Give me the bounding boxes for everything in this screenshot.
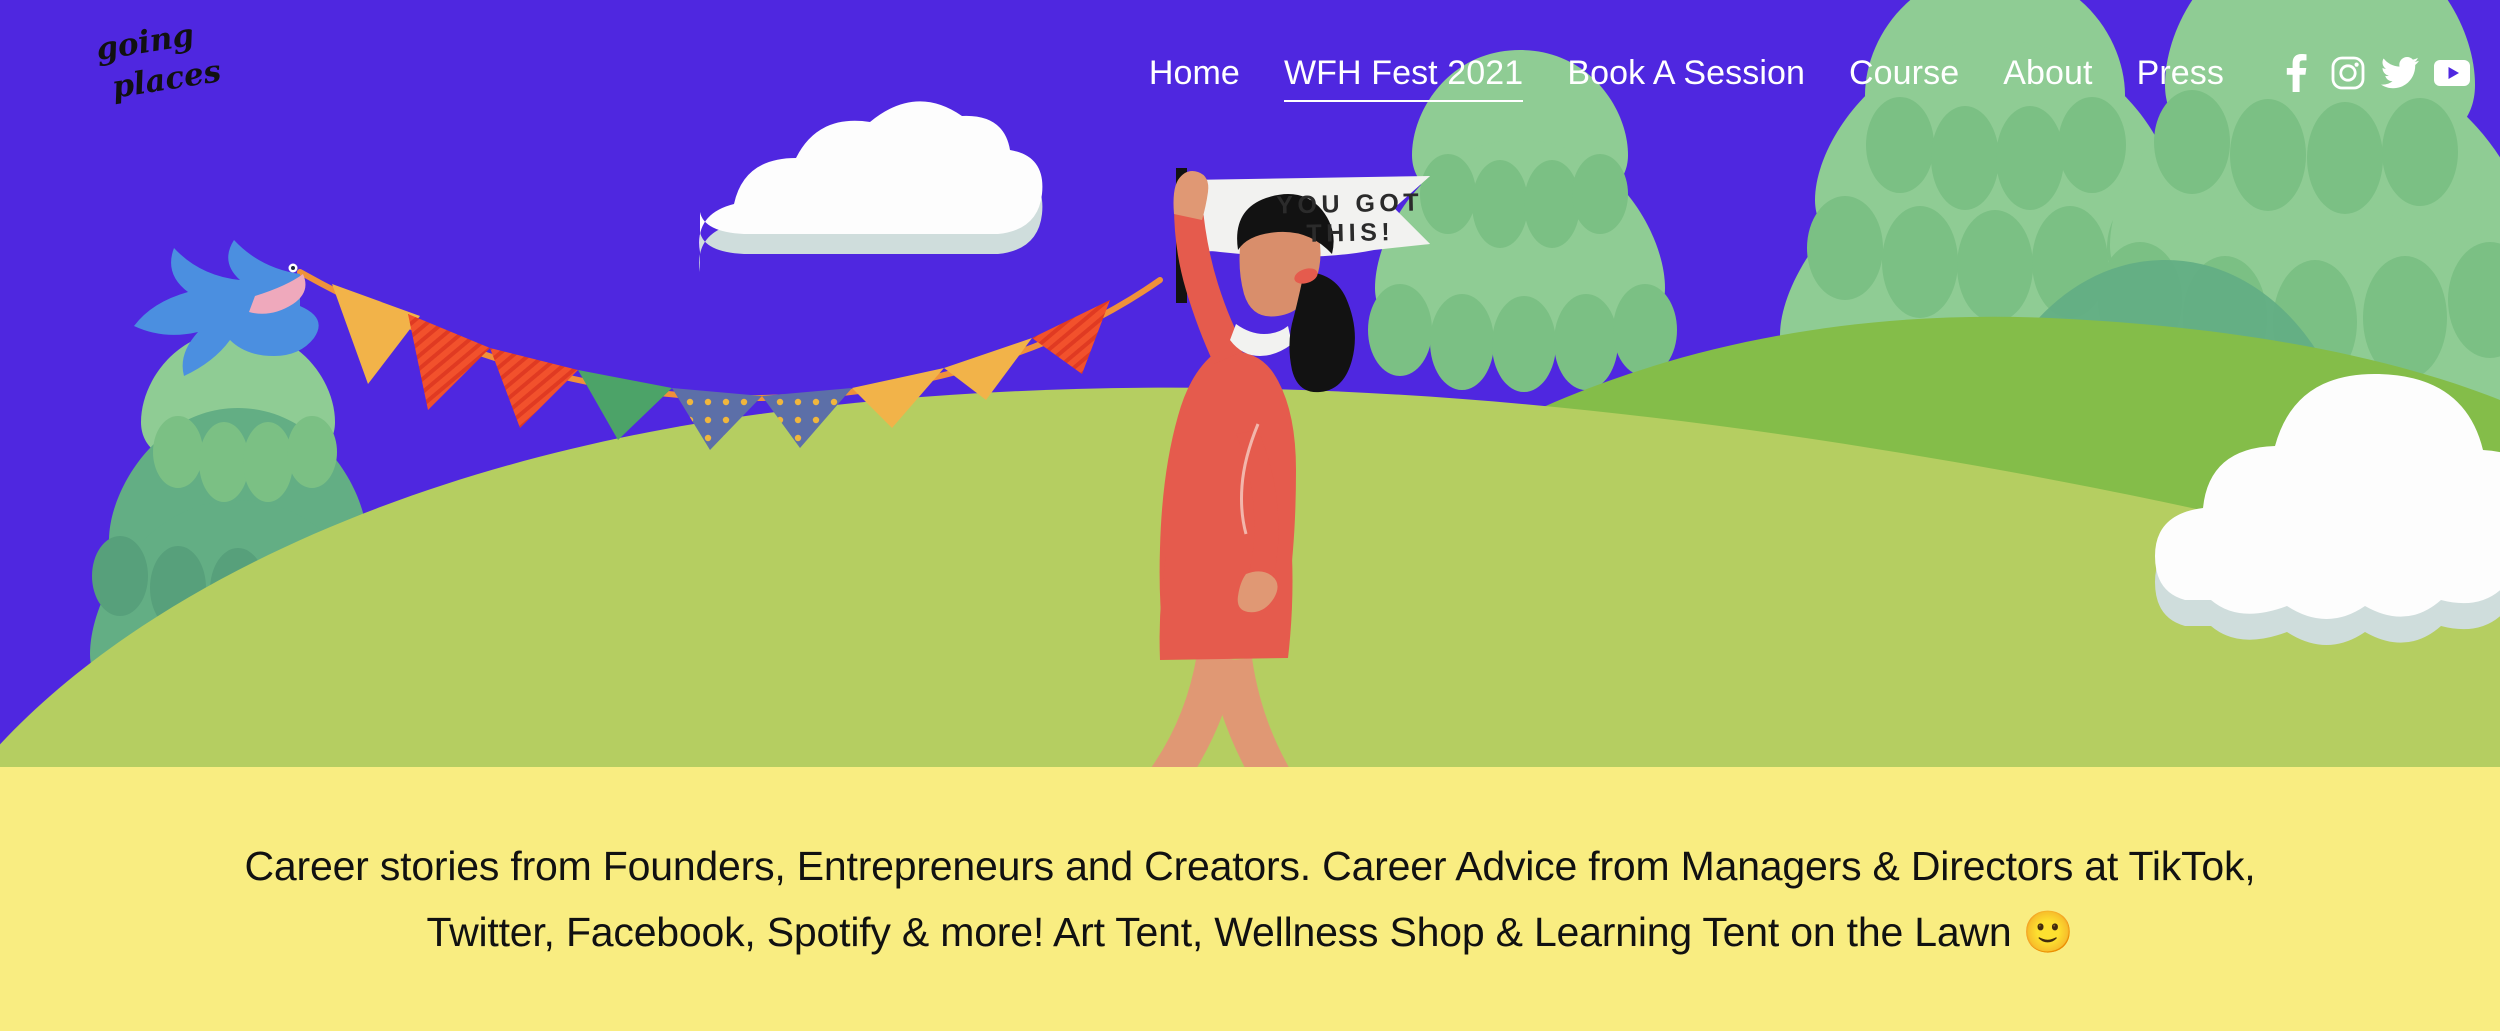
instagram-icon[interactable] xyxy=(2322,51,2374,95)
nav-item-book-a-session[interactable]: Book A Session xyxy=(1545,53,1827,94)
tagline-band: Career stories from Founders, Entreprene… xyxy=(0,767,2500,1031)
nav-item-course[interactable]: Course xyxy=(1827,53,1981,94)
twitter-icon[interactable] xyxy=(2374,51,2426,95)
nav-item-about[interactable]: About xyxy=(1981,53,2114,94)
nav-item-wfh-fest-2021[interactable]: WFH Fest 2021 xyxy=(1262,53,1545,94)
tagline-line-1: Career stories from Founders, Entreprene… xyxy=(245,833,2256,899)
nav-links: Home WFH Fest 2021 Book A Session Course… xyxy=(1127,53,2246,94)
flag-text: YOU GOT THIS! xyxy=(1239,188,1460,251)
nav-item-press[interactable]: Press xyxy=(2115,53,2246,94)
facebook-icon[interactable] xyxy=(2270,51,2322,95)
hero-illustration: YOU GOT THIS! going places Home WFH Fest… xyxy=(0,0,2500,767)
page-root: YOU GOT THIS! going places Home WFH Fest… xyxy=(0,0,2500,1031)
nav-item-home[interactable]: Home xyxy=(1127,53,1262,94)
social-links xyxy=(2270,51,2478,95)
youtube-icon[interactable] xyxy=(2426,51,2478,95)
tagline-line-2: Twitter, Facebook, Spotify & more! Art T… xyxy=(426,899,2073,965)
main-navigation: Home WFH Fest 2021 Book A Session Course… xyxy=(0,0,2500,120)
